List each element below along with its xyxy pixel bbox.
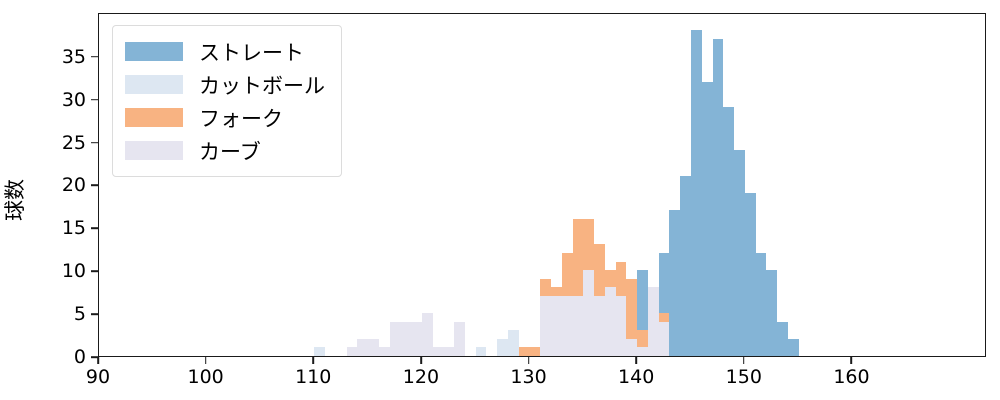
- x-tick-mark: [635, 357, 637, 364]
- legend-item[interactable]: ストレート: [125, 35, 325, 68]
- y-tick-mark: [91, 185, 98, 187]
- histogram-bar: [508, 330, 519, 356]
- legend-swatch: [125, 141, 183, 160]
- histogram-bar: [573, 296, 584, 356]
- histogram-bar: [497, 339, 508, 356]
- x-tick-mark: [528, 357, 530, 364]
- histogram-bar: [626, 339, 637, 356]
- legend-item[interactable]: カットボール: [125, 68, 325, 101]
- histogram-bar: [659, 322, 670, 356]
- y-tick-mark: [91, 228, 98, 230]
- histogram-bar: [745, 193, 756, 356]
- histogram-bar: [637, 347, 648, 356]
- y-tick-label: 25: [62, 132, 86, 154]
- histogram-bar: [594, 296, 605, 356]
- histogram-bar: [680, 176, 691, 356]
- histogram-bar: [411, 322, 422, 356]
- histogram-bar: [314, 347, 325, 356]
- x-tick-mark: [420, 357, 422, 364]
- x-tick-mark: [743, 357, 745, 364]
- chart-legend: ストレートカットボールフォークカーブ: [112, 25, 342, 177]
- histogram-bar: [788, 339, 799, 356]
- histogram-chart: 05101520253035 球数 9010011012013014015016…: [0, 0, 1000, 400]
- histogram-bar: [433, 347, 444, 356]
- histogram-bar: [519, 347, 530, 356]
- legend-item[interactable]: カーブ: [125, 134, 325, 167]
- y-tick-mark: [91, 56, 98, 58]
- histogram-bar: [691, 30, 702, 356]
- histogram-bar: [379, 347, 390, 356]
- y-tick-label: 10: [62, 260, 86, 282]
- x-tick-label: 110: [295, 366, 331, 388]
- y-tick-label: 0: [74, 346, 86, 368]
- histogram-bar: [648, 287, 659, 356]
- y-tick-mark: [91, 99, 98, 101]
- y-tick-mark: [91, 313, 98, 315]
- x-tick-label: 90: [86, 366, 110, 388]
- histogram-bar: [551, 296, 562, 356]
- histogram-bar: [454, 322, 465, 356]
- x-tick-mark: [312, 357, 314, 364]
- x-tick-label: 100: [187, 366, 223, 388]
- x-tick-mark: [205, 357, 207, 364]
- y-tick-mark: [91, 270, 98, 272]
- histogram-bar: [357, 339, 368, 356]
- y-tick-label: 20: [62, 174, 86, 196]
- x-tick-label: 140: [618, 366, 654, 388]
- y-tick-label: 5: [74, 303, 86, 325]
- legend-label: ストレート: [199, 37, 304, 67]
- legend-swatch: [125, 108, 183, 127]
- histogram-bar: [723, 107, 734, 356]
- histogram-bar: [368, 339, 379, 356]
- histogram-bar: [766, 270, 777, 356]
- histogram-bar: [443, 347, 454, 356]
- legend-label: カットボール: [199, 70, 325, 100]
- histogram-bar: [476, 347, 487, 356]
- x-tick-mark: [97, 357, 99, 364]
- x-tick-label: 160: [833, 366, 869, 388]
- histogram-bar: [540, 296, 551, 356]
- histogram-bar: [562, 296, 573, 356]
- histogram-bar: [702, 82, 713, 357]
- histogram-bar: [756, 253, 767, 356]
- y-tick-label: 30: [62, 89, 86, 111]
- legend-item[interactable]: フォーク: [125, 101, 325, 134]
- legend-label: カーブ: [199, 136, 261, 166]
- histogram-bar: [347, 347, 358, 356]
- y-tick-label: 15: [62, 217, 86, 239]
- histogram-bar: [605, 287, 616, 356]
- histogram-bar: [422, 313, 433, 356]
- histogram-bar: [777, 322, 788, 356]
- histogram-bar: [669, 210, 680, 356]
- y-axis-label: 球数: [0, 179, 29, 221]
- histogram-bar: [390, 322, 401, 356]
- histogram-bar: [530, 347, 541, 356]
- x-tick-mark: [851, 357, 853, 364]
- histogram-bar: [400, 322, 411, 356]
- legend-swatch: [125, 75, 183, 94]
- histogram-bar: [583, 270, 594, 356]
- x-tick-label: 120: [403, 366, 439, 388]
- x-tick-label: 130: [510, 366, 546, 388]
- legend-swatch: [125, 42, 183, 61]
- x-tick-label: 150: [726, 366, 762, 388]
- y-tick-mark: [91, 142, 98, 144]
- legend-label: フォーク: [199, 103, 283, 133]
- histogram-bar: [713, 39, 724, 356]
- y-tick-label: 35: [62, 46, 86, 68]
- histogram-bar: [734, 150, 745, 356]
- histogram-bar: [616, 296, 627, 356]
